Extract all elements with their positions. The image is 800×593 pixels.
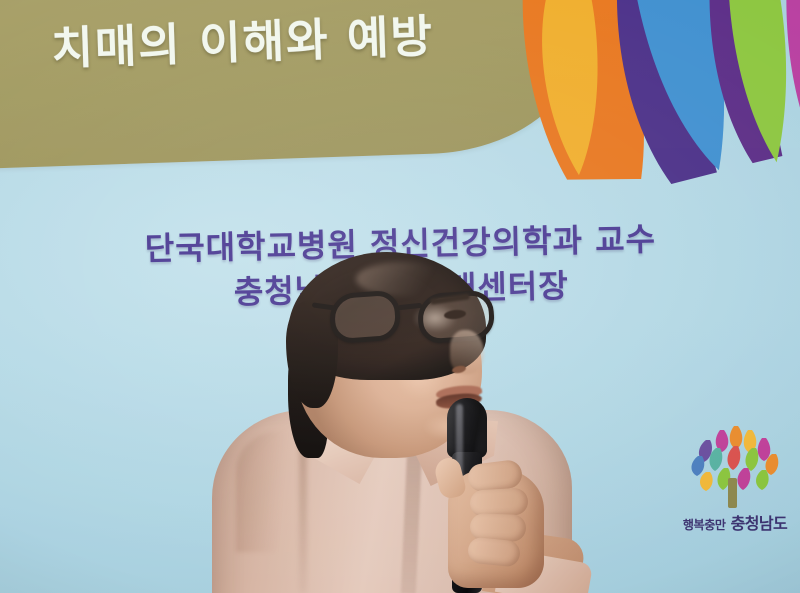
speaker-figure <box>0 0 800 593</box>
glasses-bridge <box>398 303 422 310</box>
photograph-scene: 치매의 이해와 예방 단국대학교병원 정신건강의학과 교수 충청남도광역치매센터… <box>0 0 800 593</box>
microphone-head <box>447 398 487 458</box>
glasses-lens-left <box>328 290 401 345</box>
shirt-sleeve-seam <box>299 444 307 593</box>
shirt-shoulder-fold <box>236 432 300 552</box>
speaker-finger-middle <box>469 488 528 518</box>
